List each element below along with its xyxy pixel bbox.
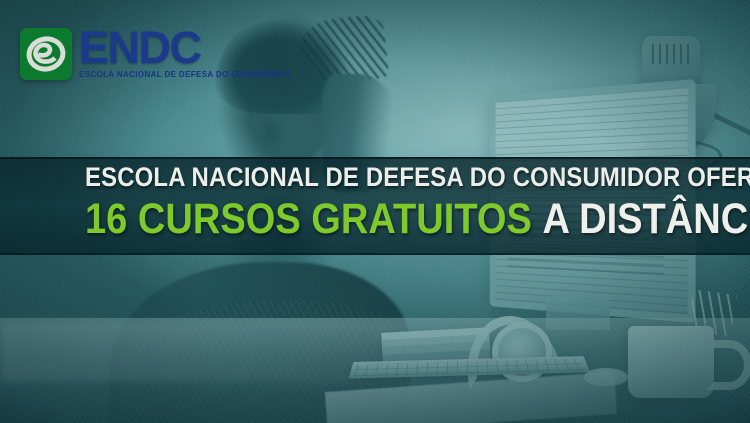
headline-line-2: 16 CURSOS GRATUITOS A DISTÂNCIA (85, 194, 603, 244)
endc-wordmark-group: ENDC ESCOLA NACIONAL DE DEFESA DO CONSUM… (79, 28, 295, 80)
headline-block: ESCOLA NACIONAL DE DEFESA DO CONSUMIDOR … (85, 161, 670, 244)
band-top-edge (0, 157, 750, 159)
endc-logo: ENDC ESCOLA NACIONAL DE DEFESA DO CONSUM… (20, 28, 295, 80)
band-bottom-edge (0, 253, 750, 255)
endc-wordmark: ENDC (79, 28, 201, 68)
headline-rest: A DISTÂNCIA (542, 195, 750, 243)
headline-highlight: 16 CURSOS GRATUITOS (85, 195, 532, 243)
headline-line-1: ESCOLA NACIONAL DE DEFESA DO CONSUMIDOR … (85, 161, 603, 193)
endc-e-swirl-icon (20, 28, 72, 80)
endc-promo-banner: ENDC ESCOLA NACIONAL DE DEFESA DO CONSUM… (0, 0, 750, 423)
endc-tagline: ESCOLA NACIONAL DE DEFESA DO CONSUMIDOR (79, 70, 290, 80)
